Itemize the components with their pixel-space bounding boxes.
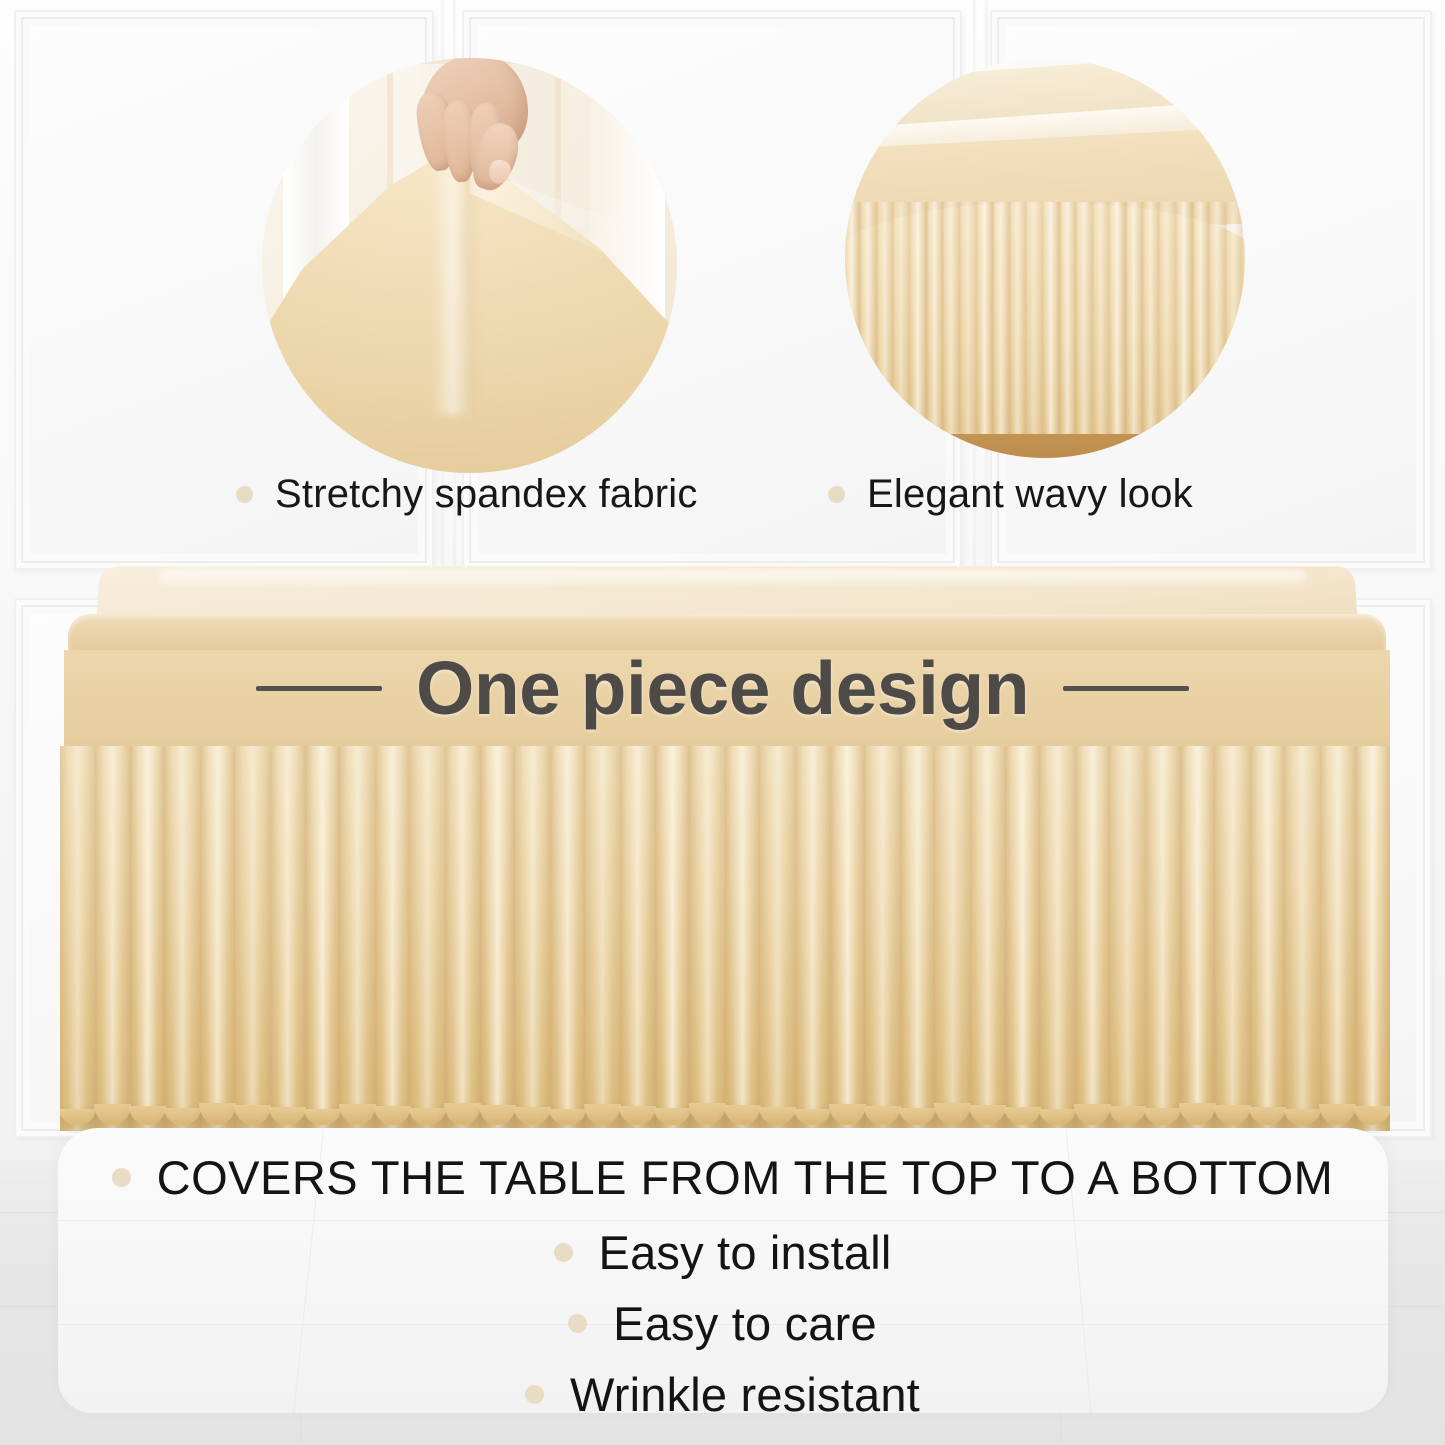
skirt-hem-scallop: [864, 1106, 901, 1125]
hand-stretching-fabric-photo: [262, 58, 677, 473]
skirt-hem-scallop: [60, 1109, 96, 1125]
skirt-pleat: [1244, 202, 1245, 434]
skirt-pleat: [1250, 746, 1285, 1131]
skirt-hem-scallop: [689, 1103, 726, 1125]
bullet-dot-icon: [112, 1168, 131, 1187]
product-infographic: [] Stretchy spandex fabric Elegant wavy …: [0, 0, 1445, 1445]
list-item: Easy to care: [0, 1296, 1445, 1351]
skirt-pleat: [1161, 202, 1178, 434]
callout-stretchy-spandex-fabric: Stretchy spandex fabric: [236, 472, 698, 517]
skirt-pleat: [1320, 746, 1355, 1131]
skirt-pleat: [270, 746, 305, 1131]
skirt-hem-scallop: [374, 1106, 411, 1125]
skirt-hem-scallop: [899, 1108, 936, 1125]
skirt-pleat: [945, 202, 962, 434]
skirt-pleat: [1028, 202, 1045, 434]
skirt-pleat: [962, 202, 979, 434]
skirt-pleat: [130, 746, 165, 1131]
skirt-pleat: [830, 746, 865, 1131]
skirt-pleat: [60, 746, 95, 1131]
skirt-pleat: [375, 746, 410, 1131]
skirt-hem-scallop: [269, 1107, 306, 1125]
skirt-hem-scallop: [409, 1108, 446, 1125]
skirt-pleat: [995, 202, 1012, 434]
skirt-pleat: [1211, 202, 1228, 434]
benefit-label: COVERS THE TABLE FROM THE TOP TO A BOTTO…: [157, 1150, 1334, 1205]
skirt-hem-scallop: [969, 1105, 1006, 1125]
rule-left-icon: [256, 686, 382, 691]
bullet-dot-icon: [568, 1314, 587, 1333]
skirt-pleat: [165, 746, 200, 1131]
page-title: One piece design: [416, 645, 1029, 731]
benefit-label: Easy to install: [599, 1225, 892, 1280]
skirt-pleat: [760, 746, 795, 1131]
skirt-pleat: [1128, 202, 1145, 434]
skirt-hem-scallop: [1074, 1104, 1111, 1125]
callout-elegant-wavy-look: Elegant wavy look: [828, 472, 1193, 517]
skirt-hem-scallop: [339, 1104, 376, 1125]
skirt-hem-scallop: [1319, 1104, 1356, 1125]
skirt-pleat: [895, 202, 912, 434]
skirt-pleat: [305, 746, 340, 1131]
skirt-hem-scallop: [164, 1108, 201, 1125]
skirt-pleat: [1145, 202, 1162, 434]
skirt-pleat: [1012, 202, 1029, 434]
list-item: Wrinkle resistant: [0, 1367, 1445, 1422]
skirt-hem-scallop: [654, 1108, 691, 1125]
bullet-dot-icon: [828, 486, 845, 503]
skirt-hem-scallop: [234, 1105, 271, 1125]
table-skirt: [60, 746, 1390, 1131]
skirt-hem-scallop: [444, 1103, 481, 1125]
skirt-hem-scallop: [304, 1109, 341, 1125]
skirt-pleat: [970, 746, 1005, 1131]
skirt-pleat: [1045, 202, 1062, 434]
skirt-hem-scallop: [794, 1109, 831, 1125]
skirt-pleat: [480, 746, 515, 1131]
skirt-pleat: [410, 746, 445, 1131]
skirt-pleats: []: [845, 202, 1245, 434]
skirt-pleat: [1095, 202, 1112, 434]
skirt-pleat: [1078, 202, 1095, 434]
bullet-dot-icon: [236, 486, 253, 503]
skirt-pleat: [1215, 746, 1250, 1131]
skirt-pleat: [1110, 746, 1145, 1131]
callout-label: Elegant wavy look: [867, 472, 1193, 517]
list-item: COVERS THE TABLE FROM THE TOP TO A BOTTO…: [0, 1150, 1445, 1205]
skirt-pleat: [1075, 746, 1110, 1131]
skirt-pleat: [1195, 202, 1212, 434]
bullet-dot-icon: [525, 1385, 544, 1404]
bullet-dot-icon: [554, 1243, 573, 1262]
skirt-pleat: [935, 746, 970, 1131]
skirt-pleat: [585, 746, 620, 1131]
skirt-pleat: [550, 746, 585, 1131]
skirt-hem-scallop: [619, 1106, 656, 1125]
skirt-pleat: [1228, 202, 1245, 434]
skirt-pleat: [1285, 746, 1320, 1131]
skirt-hem-scallop: [1284, 1109, 1321, 1125]
pleated-skirt-corner-photo: []: [845, 58, 1245, 458]
skirt-pleat: [795, 746, 830, 1131]
skirt-hem-scallop: [1214, 1105, 1251, 1125]
skirt-pleat: [340, 746, 375, 1131]
skirt-pleat: [1111, 202, 1128, 434]
skirt-hem-scallop: [724, 1105, 761, 1125]
skirt-pleat: [1005, 746, 1040, 1131]
skirt-pleat: [515, 746, 550, 1131]
callout-label: Stretchy spandex fabric: [275, 472, 698, 517]
skirt-pleat: [912, 202, 929, 434]
skirt-hem-scallop: [129, 1106, 166, 1125]
skirt-hem-scallop: [1144, 1108, 1181, 1125]
skirt-hem-scallop: [549, 1109, 586, 1125]
skirt-hem-scallop: [94, 1104, 131, 1125]
skirt-pleat: [1145, 746, 1180, 1131]
skirt-pleat: [1178, 202, 1195, 434]
skirt-hem-scallop: [1354, 1106, 1390, 1125]
skirt-hem-scallop: [759, 1107, 796, 1125]
skirt-hem-scallop: [934, 1103, 971, 1125]
benefits-list: COVERS THE TABLE FROM THE TOP TO A BOTTO…: [0, 1150, 1445, 1422]
skirt-hem-scallop: [1004, 1107, 1041, 1125]
skirt-hem: [60, 1087, 1390, 1133]
headline-one-piece-design: One piece design: [0, 645, 1445, 731]
skirt-hem-scallop: [1039, 1109, 1076, 1125]
skirt-pleat: [690, 746, 725, 1131]
skirt-hem-scallop: [829, 1104, 866, 1125]
skirt-hem-scallop: [1109, 1106, 1146, 1125]
skirt-pleat: [95, 746, 130, 1131]
skirt-pleat: [445, 746, 480, 1131]
skirt-pleat: [979, 202, 996, 434]
skirt-pleat: [725, 746, 760, 1131]
skirt-pleat: [620, 746, 655, 1131]
benefit-label: Easy to care: [613, 1296, 877, 1351]
skirt-hem-scallop: [1249, 1107, 1286, 1125]
skirt-pleat: [655, 746, 690, 1131]
skirt-pleat: [1180, 746, 1215, 1131]
skirt-hem-scallop: [1179, 1103, 1216, 1125]
skirt-pleat: [865, 746, 900, 1131]
list-item: Easy to install: [0, 1225, 1445, 1280]
skirt-hem-scallop: [584, 1104, 621, 1125]
hand-icon: [411, 58, 536, 191]
skirt-pleat: [929, 202, 946, 434]
skirt-pleat: [1355, 746, 1390, 1131]
skirt-pleat: [879, 202, 896, 434]
skirt-hem-scallop: [514, 1107, 551, 1125]
skirt-pleat: [900, 746, 935, 1131]
skirt-pleat: [846, 202, 863, 434]
rule-right-icon: [1063, 686, 1189, 691]
skirt-pleat: [862, 202, 879, 434]
skirt-hem-scallop: [479, 1105, 516, 1125]
skirt-pleat: [1062, 202, 1079, 434]
skirt-hem-scallop: [199, 1103, 236, 1125]
skirt-pleat: [200, 746, 235, 1131]
skirt-pleat: [1040, 746, 1075, 1131]
benefit-label: Wrinkle resistant: [570, 1367, 920, 1422]
skirt-pleat: [235, 746, 270, 1131]
